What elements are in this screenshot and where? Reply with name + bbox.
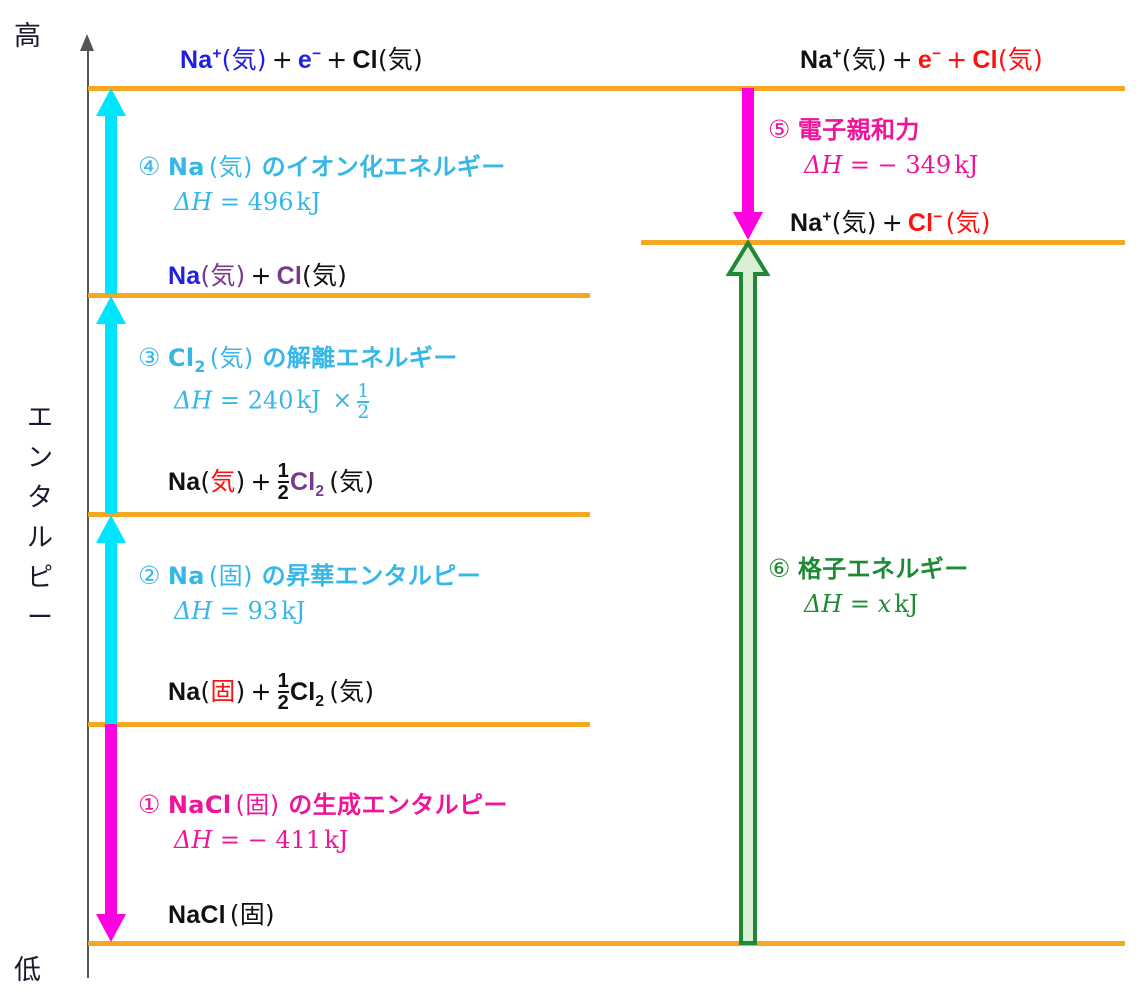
species-cl: Cl	[290, 468, 315, 496]
step-5-title-rest: 電子親和力	[798, 116, 920, 144]
species-cl-state: (気)	[329, 677, 374, 706]
level-line-na-half-cl2	[88, 512, 590, 517]
arrow-step-3-dissociation	[96, 296, 126, 514]
arrow-step-4-ionization	[96, 88, 126, 294]
species-nacl-state: (固)	[230, 900, 275, 929]
step-3-dh-symbol: ΔH	[174, 386, 212, 414]
step-6-dh-unit: kJ	[894, 590, 918, 618]
species-na: Na	[168, 468, 200, 496]
species-cl-subscript: 2	[315, 693, 324, 710]
species-label-top-left: Na+(気)+e−+Cl(気)	[180, 40, 423, 76]
step-3-dh-value: 240	[248, 386, 294, 414]
step-3-title-species: Cl	[168, 344, 195, 372]
operator-plus-1: +	[887, 45, 918, 74]
step-3-dh-equals: =	[220, 386, 240, 414]
species-na: Na	[790, 209, 822, 237]
level-line-top-left	[88, 86, 1125, 91]
step-4-title-rest: のイオン化エネルギー	[253, 153, 506, 181]
species-label-top-right: Na+(気)+e−+Cl(気)	[800, 40, 1043, 76]
operator-plus: +	[245, 261, 276, 290]
step-2-dh-equals: =	[220, 597, 240, 625]
species-na-charge: +	[832, 46, 841, 63]
step-1-title-state: (固)	[236, 791, 280, 819]
born-haber-diagram: 高 低 エ ン タ ル ピ ー	[0, 0, 1143, 1004]
species-label-na-solid-half-cl2: Na(固)+12Cl2(気)	[168, 672, 374, 715]
step-4-title-state: (気)	[209, 153, 253, 181]
step-3-title: ③Cl2(気) の解離エネルギー	[138, 338, 458, 376]
step-5-dh-symbol: ΔH	[804, 151, 842, 179]
step-3-dh-fraction-numerator: 1	[357, 382, 369, 401]
fraction-numerator: 1	[278, 461, 289, 481]
step-3-dh-fraction: 12	[357, 382, 369, 422]
arrow-step-2-sublimation	[96, 515, 126, 725]
level-line-ion-pair	[641, 240, 1125, 245]
species-na-state-close: )	[236, 467, 246, 496]
step-5-title: ⑤電子親和力	[768, 110, 978, 145]
axis-high-label: 高	[14, 14, 41, 53]
arrow-step-1-formation	[96, 724, 126, 942]
species-cl: Cl	[908, 209, 933, 237]
species-na-state-close: )	[236, 677, 246, 706]
species-cl-state: (気)	[998, 45, 1043, 74]
step-1-enthalpy: ΔH = − 411kJ	[174, 826, 508, 854]
step-2-number: ②	[138, 561, 161, 590]
arrow-step-6-lattice-energy	[726, 240, 770, 946]
step-4-dh-unit: kJ	[296, 188, 320, 216]
step-3-dh-unit: kJ	[296, 386, 320, 414]
species-na: Na	[168, 678, 200, 706]
species-cl: Cl	[972, 46, 997, 74]
step-2-enthalpy: ΔH = 93kJ	[174, 597, 481, 625]
level-line-na-cl-gas	[88, 293, 590, 298]
step-1-dh-equals: =	[220, 826, 240, 854]
step-6-number: ⑥	[768, 554, 791, 583]
step-5-number: ⑤	[768, 115, 791, 144]
species-cl-charge: −	[933, 209, 942, 226]
species-nacl: NaCl	[168, 901, 226, 929]
species-na-state: (気)	[832, 208, 877, 237]
step-4-number: ④	[138, 152, 161, 181]
step-2-dh-value: 93	[248, 597, 279, 625]
step-4-enthalpy: ΔH = 496kJ	[174, 188, 506, 216]
step-3-title-rest: の解離エネルギー	[254, 344, 458, 372]
species-na-charge: +	[822, 209, 831, 226]
step-2-title: ②Na(固) の昇華エンタルピー	[138, 556, 481, 591]
step-2-title-state: (固)	[209, 562, 253, 590]
step-4-title-species: Na	[168, 153, 205, 181]
step-5-enthalpy: ΔH = − 349kJ	[804, 151, 978, 179]
step-5-annotation: ⑤電子親和力 ΔH = − 349kJ	[768, 110, 978, 179]
step-5-dh-unit: kJ	[954, 151, 978, 179]
step-4-dh-value: 496	[248, 188, 294, 216]
species-cl-state: (気)	[946, 208, 991, 237]
step-6-dh-symbol: ΔH	[804, 590, 842, 618]
step-4-dh-symbol: ΔH	[174, 188, 212, 216]
step-1-dh-unit: kJ	[324, 826, 348, 854]
operator-plus-1: +	[267, 45, 298, 74]
step-4-title: ④Na(気) のイオン化エネルギー	[138, 147, 506, 182]
step-6-dh-value: x	[878, 590, 892, 618]
species-label-na-cl-gas: Na(気)+Cl(気)	[168, 256, 347, 292]
fraction-denominator: 2	[278, 481, 289, 503]
step-2-title-species: Na	[168, 562, 205, 590]
step-6-enthalpy: ΔH = xkJ	[804, 590, 969, 618]
operator-plus-2: +	[321, 45, 352, 74]
step-2-title-rest: の昇華エンタルピー	[253, 562, 481, 590]
species-electron: e	[298, 46, 312, 74]
step-1-dh-value: − 411	[248, 826, 322, 854]
species-na: Na	[800, 46, 832, 74]
axis-title-char-0: エ	[22, 398, 58, 438]
species-na-state-open: (	[200, 467, 210, 496]
step-3-dh-fraction-denominator: 2	[357, 401, 369, 422]
species-cl-state: (気)	[378, 45, 423, 74]
axis-title-char-1: ン	[22, 438, 58, 478]
step-3-dh-times: ×	[332, 386, 352, 414]
step-3-number: ③	[138, 343, 161, 372]
step-2-dh-symbol: ΔH	[174, 597, 212, 625]
species-cl: Cl	[352, 46, 377, 74]
species-electron: e	[918, 46, 932, 74]
step-4-dh-equals: =	[220, 188, 240, 216]
species-na: Na	[180, 46, 212, 74]
operator-plus-2: +	[941, 45, 972, 74]
step-1-title: ①NaCl(固) の生成エンタルピー	[138, 785, 508, 820]
step-2-dh-unit: kJ	[281, 597, 305, 625]
axis-title-char-5: ー	[22, 598, 58, 638]
axis-title-char-4: ピ	[22, 558, 58, 598]
species-na: Na	[168, 262, 200, 290]
species-cl-state: (気)	[329, 467, 374, 496]
species-electron-charge: −	[312, 46, 321, 63]
step-1-title-rest: の生成エンタルピー	[279, 791, 507, 819]
species-na-state: (気)	[200, 261, 245, 290]
fraction-numerator: 1	[278, 671, 289, 691]
step-3-annotation: ③Cl2(気) の解離エネルギー ΔH = 240kJ ×12	[138, 338, 458, 422]
step-6-title-rest: 格子エネルギー	[798, 555, 969, 583]
enthalpy-axis-arrowhead	[80, 34, 94, 51]
step-6-dh-equals: =	[850, 590, 870, 618]
arrow-step-5-electron-affinity	[733, 88, 763, 240]
step-1-number: ①	[138, 790, 161, 819]
fraction-one-half: 12	[278, 671, 289, 714]
step-1-annotation: ①NaCl(固) の生成エンタルピー ΔH = − 411kJ	[138, 785, 508, 854]
operator-plus: +	[246, 467, 277, 496]
fraction-denominator: 2	[278, 691, 289, 713]
axis-title-char-2: タ	[22, 478, 58, 518]
axis-title-char-3: ル	[22, 518, 58, 558]
fraction-one-half: 12	[278, 461, 289, 504]
species-label-nacl-solid: NaCl(固)	[168, 895, 275, 931]
species-label-ion-pair: Na+(気)+Cl−(気)	[790, 203, 991, 239]
step-3-title-subscript: 2	[194, 358, 205, 376]
species-electron-charge: −	[932, 46, 941, 63]
level-line-bottom-nacl-solid	[88, 941, 1125, 946]
step-3-title-state: (気)	[210, 344, 254, 372]
species-na-state-kanji: 固	[210, 677, 235, 706]
step-4-annotation: ④Na(気) のイオン化エネルギー ΔH = 496kJ	[138, 147, 506, 216]
species-na-state: (気)	[222, 45, 267, 74]
step-5-dh-value: − 349	[878, 151, 952, 179]
step-2-annotation: ②Na(固) の昇華エンタルピー ΔH = 93kJ	[138, 556, 481, 625]
step-1-dh-symbol: ΔH	[174, 826, 212, 854]
operator-plus: +	[246, 677, 277, 706]
step-6-title: ⑥格子エネルギー	[768, 549, 969, 584]
species-cl: Cl	[290, 678, 315, 706]
axis-low-label: 低	[14, 948, 41, 987]
species-na-charge: +	[212, 46, 221, 63]
species-na-state-kanji: 気	[210, 467, 235, 496]
step-5-dh-equals: =	[850, 151, 870, 179]
species-cl-state: (気)	[302, 261, 347, 290]
species-cl-subscript: 2	[315, 483, 324, 500]
step-6-annotation: ⑥格子エネルギー ΔH = xkJ	[768, 549, 969, 618]
level-line-na-solid	[88, 722, 590, 727]
step-3-enthalpy: ΔH = 240kJ ×12	[174, 382, 458, 422]
operator-plus: +	[877, 208, 908, 237]
species-na-state-open: (	[200, 677, 210, 706]
axis-title-enthalpy: エ ン タ ル ピ ー	[22, 398, 58, 638]
step-1-title-species: NaCl	[168, 791, 232, 819]
species-na-state: (気)	[842, 45, 887, 74]
species-cl: Cl	[277, 262, 302, 290]
species-label-na-half-cl2-gas: Na(気)+12Cl2(気)	[168, 462, 374, 505]
